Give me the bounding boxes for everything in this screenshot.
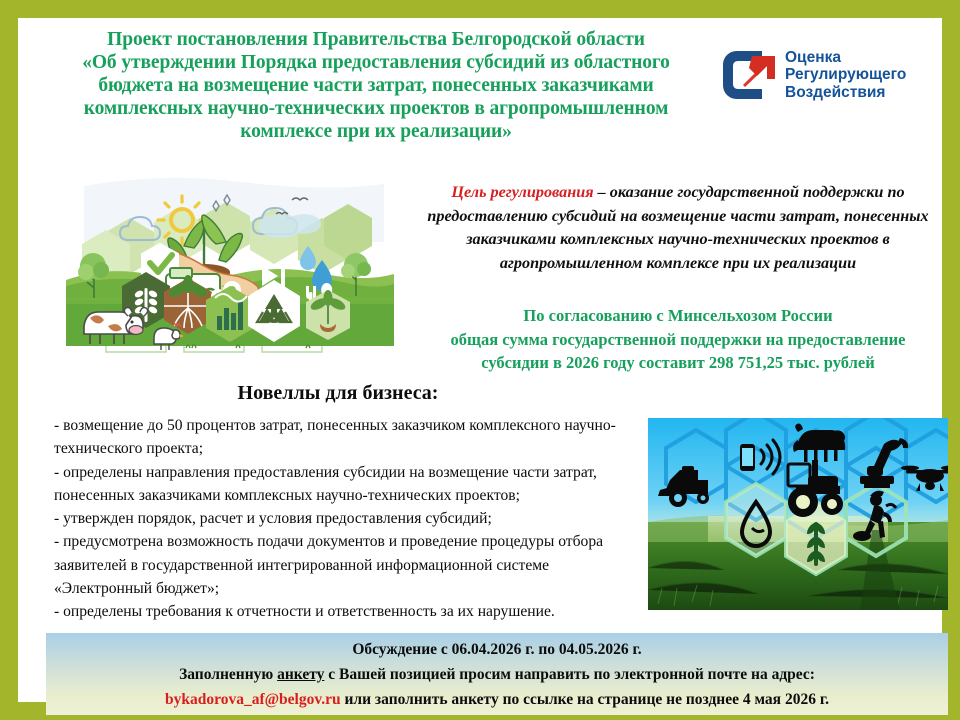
logo-line-2: Регулирующего <box>785 66 906 84</box>
minselhoz-line-2: общая сумма государственной поддержки на… <box>404 328 952 352</box>
sustainable-agriculture-illustration <box>66 170 394 370</box>
email-link[interactable]: bykadorova_af@belgov.ru <box>165 691 341 708</box>
title-line-5: комплексе при их реализации» <box>54 120 698 143</box>
list-item: - определены направления предоставления … <box>54 461 634 508</box>
page-title: Проект постановления Правительства Белго… <box>54 28 698 143</box>
orv-logo-mark-icon <box>721 47 779 103</box>
anketa-link[interactable]: анкету <box>277 666 324 683</box>
title-line-2: «Об утверждении Порядка предоставления с… <box>54 51 698 74</box>
goal-dash: – <box>594 183 610 201</box>
orv-logo-text: Оценка Регулирующего Воздействия <box>785 49 906 102</box>
footer-line-3: bykadorova_af@belgov.ru или заполнить ан… <box>165 687 829 712</box>
footer-line2-suffix: с Вашей позицией просим направить по эле… <box>324 666 815 683</box>
logo-line-1: Оценка <box>785 49 906 67</box>
discussion-footer: Обсуждение с 06.04.2026 г. по 04.05.2026… <box>46 633 948 715</box>
goal-label: Цель регулирования <box>451 183 593 201</box>
novelty-list: - возмещение до 50 процентов затрат, пон… <box>54 414 634 624</box>
footer-line3-tail: или заполнить анкету по ссылке на страни… <box>341 691 829 708</box>
footer-line-2: Заполненную анкету с Вашей позицией прос… <box>179 662 815 687</box>
slide-root: Проект постановления Правительства Белго… <box>0 0 960 720</box>
minselhoz-block: По согласованию с Минсельхозом России об… <box>404 304 952 375</box>
title-line-4: комплексных научно-технических проектов … <box>54 97 698 120</box>
title-line-3: бюджета на возмещение части затрат, поне… <box>54 74 698 97</box>
list-item: - определены требования к отчетности и о… <box>54 600 634 623</box>
minselhoz-line-3: субсидии в 2026 году составит 298 751,25… <box>404 351 952 375</box>
logo-line-3: Воздействия <box>785 84 906 102</box>
footer-line-1: Обсуждение с 06.04.2026 г. по 04.05.2026… <box>352 637 641 662</box>
title-line-1: Проект постановления Правительства Белго… <box>54 28 698 51</box>
orv-logo: Оценка Регулирующего Воздействия <box>721 44 934 106</box>
minselhoz-line-1: По согласованию с Минсельхозом России <box>404 304 952 328</box>
novelty-heading: Новеллы для бизнеса: <box>58 382 618 405</box>
goal-block: Цель регулирования – оказание государств… <box>404 181 952 275</box>
footer-line2-prefix: Заполненную <box>179 666 277 683</box>
list-item: - предусмотрена возможность подачи докум… <box>54 530 634 600</box>
list-item: - утвержден порядок, расчет и условия пр… <box>54 507 634 530</box>
smart-farming-photo <box>648 418 948 610</box>
list-item: - возмещение до 50 процентов затрат, пон… <box>54 414 634 461</box>
slide-canvas: Проект постановления Правительства Белго… <box>18 18 942 702</box>
